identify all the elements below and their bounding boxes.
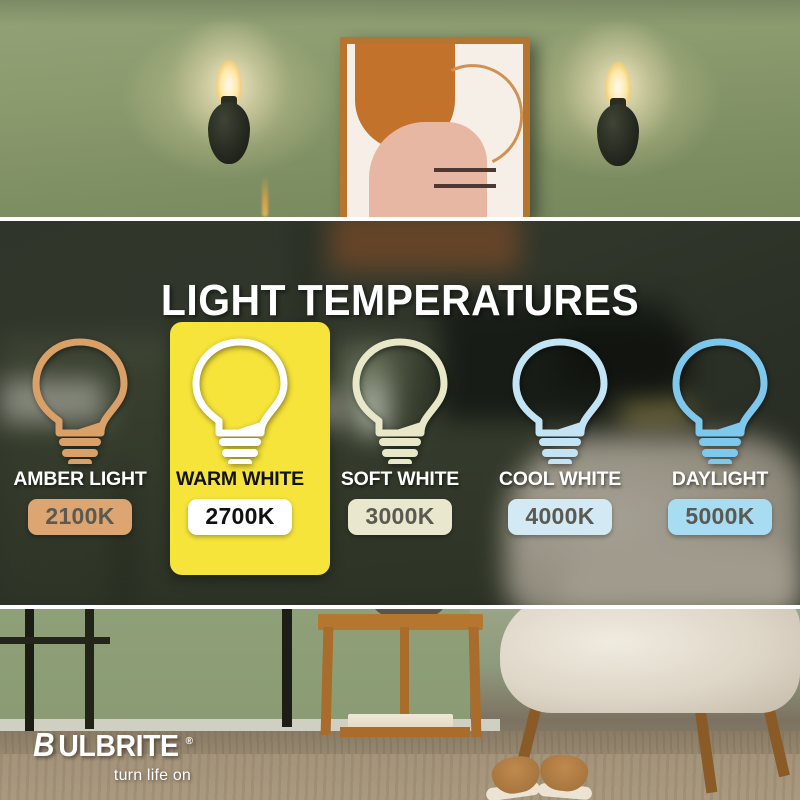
bulb-icon-wrap [668, 330, 772, 470]
logo-name: ULBRITE [58, 730, 178, 761]
bulb-icon-wrap [28, 330, 132, 470]
light-temperatures-poster: LIGHT TEMPERATURES AMBER LIGHT 2100K [0, 0, 800, 800]
temperature-item-warm-white[interactable]: WARM WHITE 2700K [160, 330, 320, 570]
backdrop-artwork [330, 221, 520, 271]
artwork-line-top [434, 168, 496, 172]
hanging-decoration [262, 175, 268, 217]
sconce-base [597, 104, 639, 166]
temperature-name: DAYLIGHT [672, 470, 768, 490]
kelvin-badge: 3000K [348, 499, 451, 535]
temperature-scale: AMBER LIGHT 2100K WARM WHITE 2700K [0, 330, 800, 570]
kelvin-badge: 4000K [508, 499, 611, 535]
temperature-name: WARM WHITE [176, 470, 304, 490]
artwork-canvas [347, 44, 523, 217]
side-table-shelf [340, 727, 470, 737]
shelf-rail [0, 637, 110, 644]
side-table-leg [400, 627, 409, 725]
bulb-icon-wrap [508, 330, 612, 470]
upholstered-chair [500, 609, 800, 713]
logo-initial: B [33, 728, 54, 761]
page-title: LIGHT TEMPERATURES [28, 279, 772, 323]
temperature-name: COOL WHITE [499, 470, 621, 490]
lightbulb-icon [188, 336, 292, 464]
lightbulb-icon [28, 336, 132, 464]
sconce-base [208, 102, 250, 164]
bulbrite-logo: B ULBRITE ® turn life on [32, 728, 193, 785]
temperature-item-daylight[interactable]: DAYLIGHT 5000K [640, 330, 800, 570]
temperature-name: SOFT WHITE [341, 470, 459, 490]
temperature-item-amber-light[interactable]: AMBER LIGHT 2100K [0, 330, 160, 570]
lightbulb-icon [668, 336, 772, 464]
temperature-item-soft-white[interactable]: SOFT WHITE 3000K [320, 330, 480, 570]
divider-top [0, 217, 800, 221]
kelvin-badge: 2100K [28, 499, 131, 535]
registered-trademark-icon: ® [186, 737, 193, 747]
shelf-post-left-2 [85, 609, 94, 729]
shelf-post-left [25, 609, 34, 734]
bulb-icon-wrap [188, 330, 292, 470]
logo-wordmark: B ULBRITE ® [32, 728, 193, 761]
shelf-post-center [282, 609, 292, 727]
artwork-line-bottom [434, 184, 496, 188]
bulb-icon-wrap [348, 330, 452, 470]
logo-tagline: turn life on [32, 767, 191, 785]
framed-artwork [340, 37, 530, 217]
lightbulb-icon [508, 336, 612, 464]
ceiling-shadow [0, 0, 800, 26]
lightbulb-icon [348, 336, 452, 464]
temperature-item-cool-white[interactable]: COOL WHITE 4000K [480, 330, 640, 570]
divider-bottom [0, 605, 800, 609]
side-table-leg [469, 627, 482, 737]
top-room-photo [0, 0, 800, 217]
temperature-name: AMBER LIGHT [13, 470, 146, 490]
kelvin-badge: 5000K [668, 499, 771, 535]
kelvin-badge: 2700K [188, 499, 291, 535]
